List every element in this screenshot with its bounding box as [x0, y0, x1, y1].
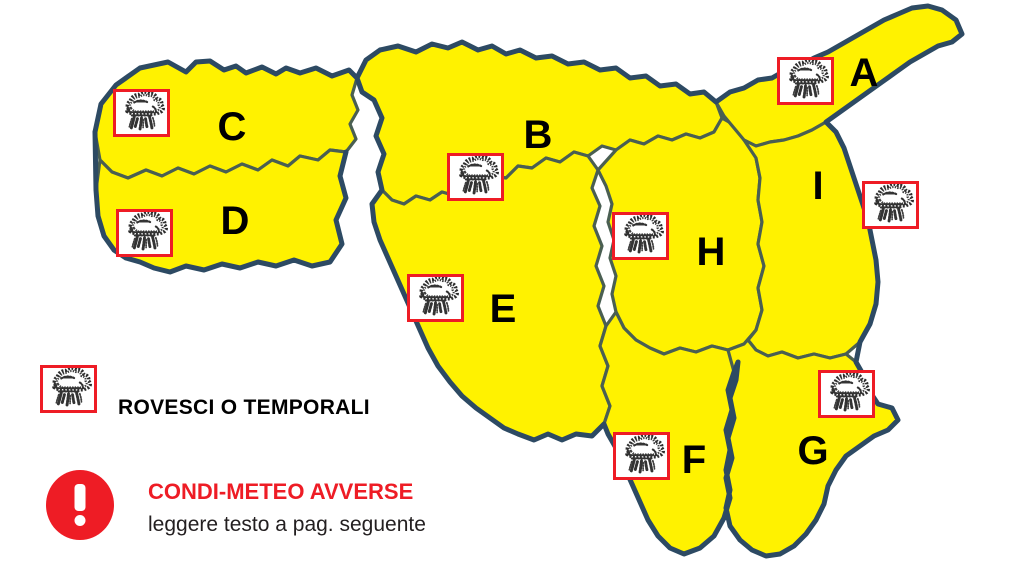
thunderstorm-shower-icon [780, 60, 831, 102]
thunderstorm-shower-icon [821, 373, 872, 415]
zone-label-H: H [697, 232, 726, 272]
storm-icon-box-zone-I[interactable] [862, 181, 919, 229]
zone-label-B: B [524, 115, 553, 155]
storm-icon-box-zone-H[interactable] [612, 212, 669, 260]
exclamation-dot [75, 515, 86, 526]
zone-label-D: D [221, 201, 250, 241]
legend-label-rovesci-temporali: ROVESCI O TEMPORALI [118, 396, 370, 420]
storm-icon-box-zone-B[interactable] [447, 153, 504, 201]
zone-label-A: A [850, 53, 879, 93]
zone-I-area[interactable] [744, 122, 878, 358]
warning-subtitle: leggere testo a pag. seguente [148, 513, 426, 537]
thunderstorm-shower-icon [116, 92, 167, 134]
thunderstorm-shower-icon [615, 215, 666, 257]
exclamation-stem [75, 484, 86, 511]
thunderstorm-shower-icon [616, 435, 667, 477]
legend-storm-icon-box [40, 365, 97, 413]
zone-A-area[interactable] [716, 6, 962, 146]
exclamation-circle-icon [46, 470, 114, 540]
storm-icon-box-zone-E[interactable] [407, 274, 464, 322]
zone-label-E: E [490, 289, 517, 329]
storm-icon-box-zone-F[interactable] [613, 432, 670, 480]
thunderstorm-shower-icon [410, 277, 461, 319]
storm-icon-box-zone-G[interactable] [818, 370, 875, 418]
storm-icon-box-zone-D[interactable] [116, 209, 173, 257]
warning-title: CONDI-METEO AVVERSE [148, 479, 413, 505]
thunderstorm-shower-icon [43, 368, 94, 410]
thunderstorm-shower-icon [450, 156, 501, 198]
zone-label-G: G [797, 431, 828, 471]
thunderstorm-shower-icon [119, 212, 170, 254]
storm-icon-box-zone-A[interactable] [777, 57, 834, 105]
zone-label-F: F [682, 440, 706, 480]
zone-label-I: I [812, 166, 823, 206]
weather-alert-map-page: A B C D E F G H I ROVESCI O TEMPORALI CO… [0, 0, 1024, 587]
storm-icon-box-zone-C[interactable] [113, 89, 170, 137]
zone-label-C: C [218, 107, 247, 147]
thunderstorm-shower-icon [865, 184, 916, 226]
